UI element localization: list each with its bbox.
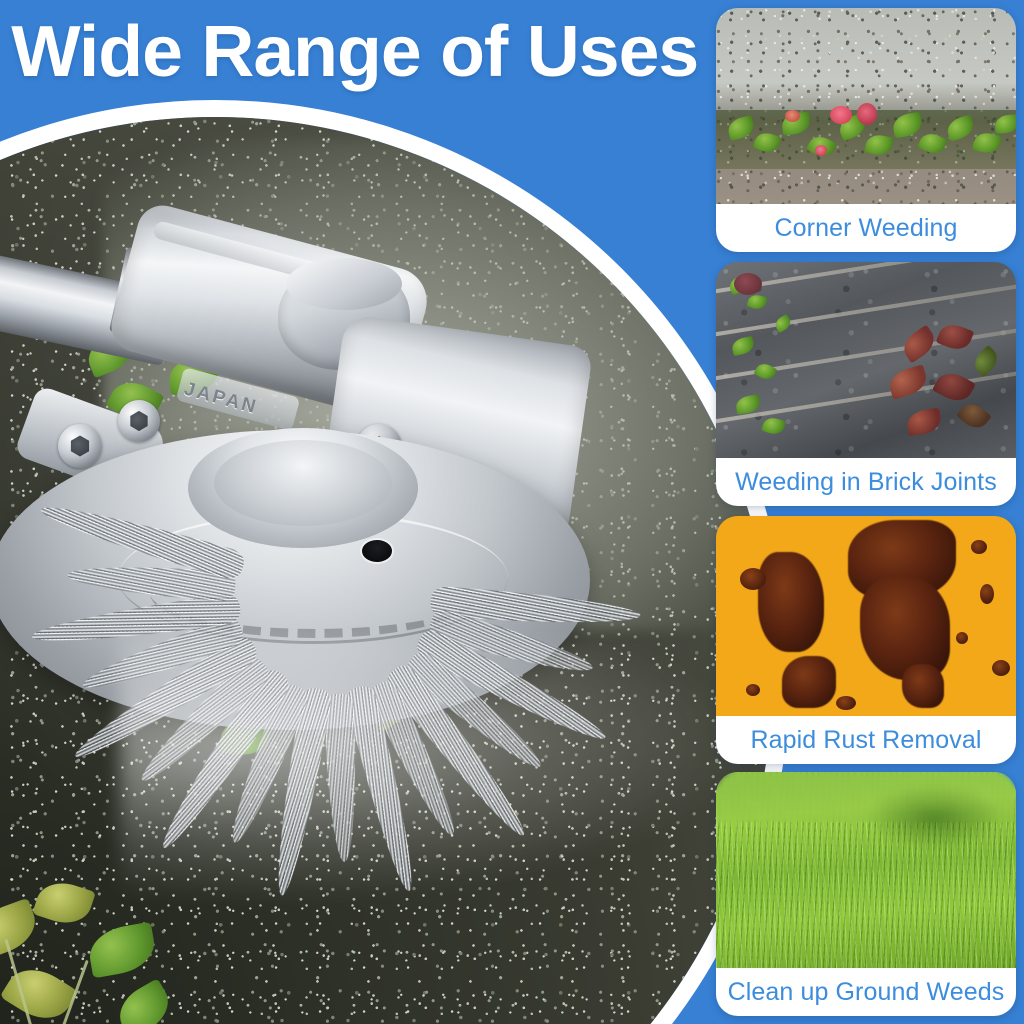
- hero-photo: [0, 117, 773, 1024]
- card-photo-ground-weeds: [716, 772, 1016, 968]
- promo-image-canvas: JAPAN: [0, 0, 1024, 1024]
- rust-spot: [740, 568, 766, 590]
- card-photo-brick-joints: [716, 262, 1016, 458]
- hero-photo-frame: [0, 100, 790, 1024]
- rust-spot: [956, 632, 968, 644]
- rust-patch: [758, 552, 824, 652]
- flower: [785, 110, 800, 122]
- use-case-card-rust-removal[interactable]: Rapid Rust Removal: [716, 516, 1016, 764]
- flower: [857, 103, 877, 125]
- rust-patch: [860, 576, 950, 680]
- flower: [830, 106, 852, 124]
- weed-cluster: [0, 877, 227, 1024]
- rust-patch: [782, 656, 836, 708]
- weed-cluster: [217, 587, 457, 797]
- rust-spot: [746, 684, 760, 696]
- card-caption: Rapid Rust Removal: [716, 716, 1016, 764]
- use-case-card-ground-weeds[interactable]: Clean up Ground Weeds: [716, 772, 1016, 1016]
- rust-spot: [836, 696, 856, 710]
- weed-row: [716, 106, 1016, 173]
- card-photo-corner-weeding: [716, 8, 1016, 204]
- weed-cluster: [77, 317, 257, 467]
- rust-spot: [992, 660, 1010, 676]
- use-case-card-brick-joints[interactable]: Weeding in Brick Joints: [716, 262, 1016, 506]
- rust-spot: [971, 540, 987, 554]
- wall-weeds-left: [722, 270, 842, 450]
- card-caption: Corner Weeding: [716, 204, 1016, 252]
- red-plant: [878, 325, 1010, 454]
- card-caption: Weeding in Brick Joints: [716, 458, 1016, 506]
- flower: [815, 145, 827, 156]
- use-case-card-corner-weeding[interactable]: Corner Weeding: [716, 8, 1016, 252]
- card-caption: Clean up Ground Weeds: [716, 968, 1016, 1016]
- rust-spot: [980, 584, 994, 604]
- page-title: Wide Range of Uses: [11, 14, 698, 90]
- card-photo-rust-removal: [716, 516, 1016, 716]
- weed-cluster: [347, 417, 577, 607]
- use-case-card-list: Corner Weeding: [714, 0, 1024, 1024]
- rust-patch: [902, 664, 944, 708]
